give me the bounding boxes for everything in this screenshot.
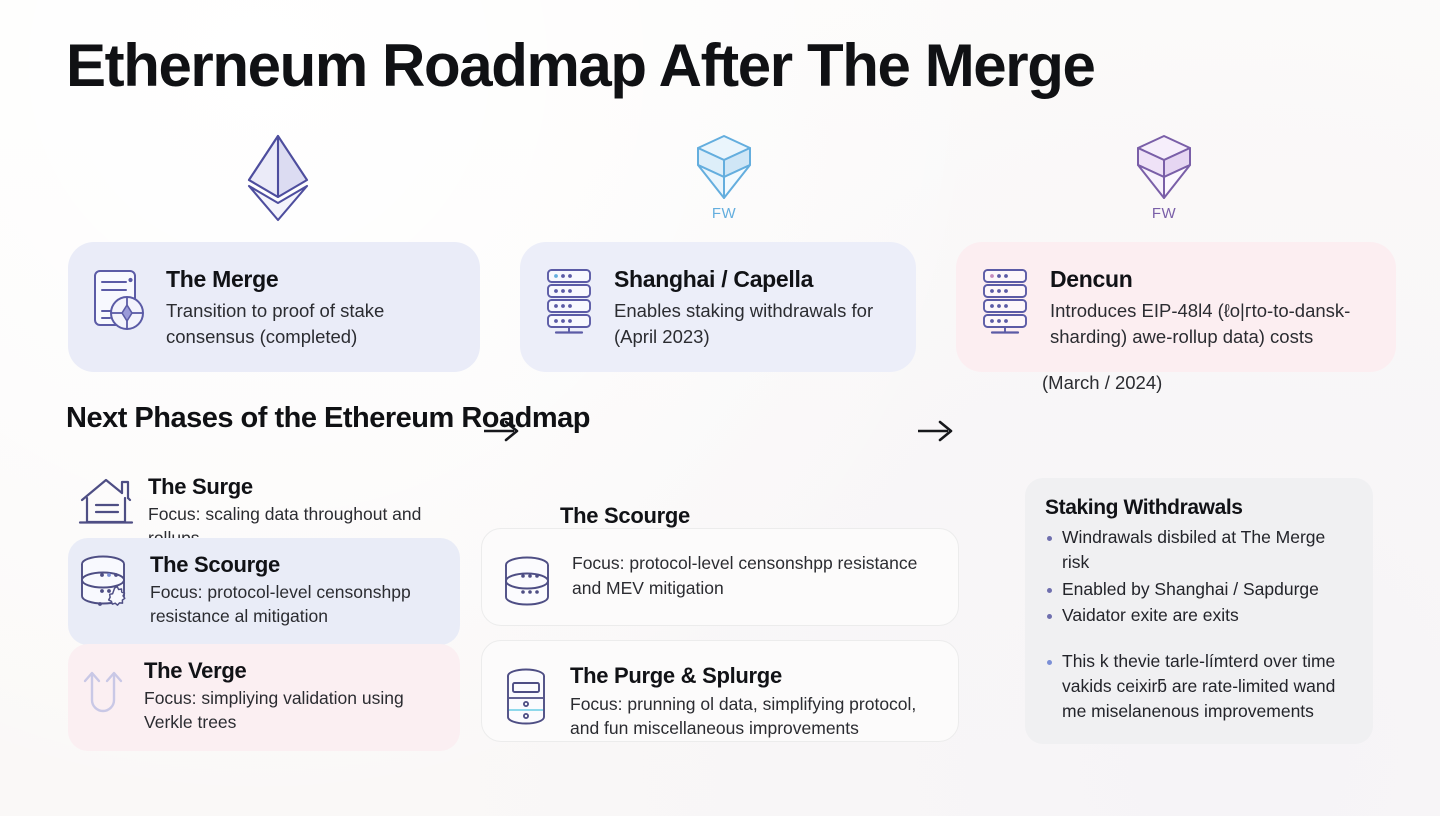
timeline-badge-label-dencun: FW (1152, 205, 1176, 222)
staking-withdrawals-panel: Staking Withdrawals Windrawals disbiled … (1025, 478, 1373, 744)
u-turn-arrows-icon (78, 660, 130, 722)
side-panel-title: Staking Withdrawals (1045, 496, 1353, 520)
timeline-badge-dencun: FW (1104, 132, 1224, 228)
side-panel-note: This k thevie tarle-límterd over time va… (1045, 649, 1353, 725)
timeline-badge-shanghai: FW (664, 132, 784, 228)
timeline-name-merge: The Merge (166, 266, 454, 294)
list-item: Vaidator exite are exits (1045, 603, 1353, 628)
house-icon (78, 476, 134, 530)
list-item: Windrawals disbiled at The Merge risk (1045, 525, 1353, 576)
timeline-badge-merge (218, 132, 338, 228)
phase-desc-purge-splurge: Focus: prunning ol data, simplifying pro… (570, 692, 938, 741)
timeline-date-dencun: (March / 2024) (1042, 370, 1162, 396)
database-gear-icon (78, 554, 136, 616)
section-heading-next-phases: Next Phases of the Ethereum Roadmap (66, 402, 590, 435)
timeline-desc-dencun: Introduces EIP-48l4 (ℓo|гto-to-dansk-sha… (1050, 298, 1370, 351)
timeline-card-dencun[interactable]: Dencun Introduces EIP-48l4 (ℓo|гto-to-da… (956, 242, 1396, 372)
phase-row-verge[interactable]: The Verge Focus: simpliying validation u… (68, 644, 460, 751)
phase-name-surge: The Surge (148, 474, 448, 500)
document-compass-icon (90, 268, 148, 334)
phase-name-verge: The Verge (144, 658, 446, 684)
timeline-badge-label-shanghai: FW (712, 205, 736, 222)
phase-card-purge-splurge[interactable]: The Purge & Splurge Focus: prunning ol d… (481, 640, 959, 742)
phase-name-purge-splurge: The Purge & Splurge (570, 663, 938, 689)
phase-row-scourge-left[interactable]: The Scourge Focus: protocol-level censon… (68, 538, 460, 645)
infographic-page: Etherneum Roadmap After The Merge (0, 0, 1440, 816)
database-icon (502, 555, 556, 607)
phase-name-scourge-left: The Scourge (150, 552, 446, 578)
side-panel-bullet-list: Windrawals disbiled at The Merge risk En… (1045, 525, 1353, 629)
server-rack-icon (978, 268, 1032, 336)
phase-name-scourge-middle: The Scourge (560, 503, 690, 529)
timeline-card-merge[interactable]: The Merge Transition to proof of stake c… (68, 242, 480, 372)
timeline-desc-shanghai: Enables staking withdrawals for (April 2… (614, 298, 890, 351)
timeline-name-dencun: Dencun (1050, 266, 1370, 294)
phase-desc-verge: Focus: simpliying validation using Verkl… (144, 686, 446, 735)
gem-cube-icon (1132, 132, 1196, 204)
timeline-name-shanghai: Shanghai / Capella (614, 266, 890, 294)
gem-cube-icon (692, 132, 756, 204)
ethereum-diamond-icon (245, 132, 311, 224)
page-title: Etherneum Roadmap After The Merge (66, 34, 1094, 97)
timeline-card-shanghai[interactable]: Shanghai / Capella Enables staking withd… (520, 242, 916, 372)
phase-card-scourge-middle[interactable]: Focus: protocol-level censonshpp resista… (481, 528, 959, 626)
phase-desc-scourge-left: Focus: protocol-level censonshpp resista… (150, 580, 446, 629)
timeline-desc-merge: Transition to proof of stake consensus (… (166, 298, 454, 351)
server-rack-icon (542, 268, 596, 336)
database-server-icon (502, 667, 554, 727)
phase-desc-scourge-middle: Focus: protocol-level censonshpp resista… (572, 551, 938, 600)
timeline-connector-arrow-2 (914, 414, 958, 448)
list-item: Enabled by Shanghai / Sapdurge (1045, 577, 1353, 602)
roadmap-timeline: The Merge Transition to proof of stake c… (0, 132, 1440, 392)
